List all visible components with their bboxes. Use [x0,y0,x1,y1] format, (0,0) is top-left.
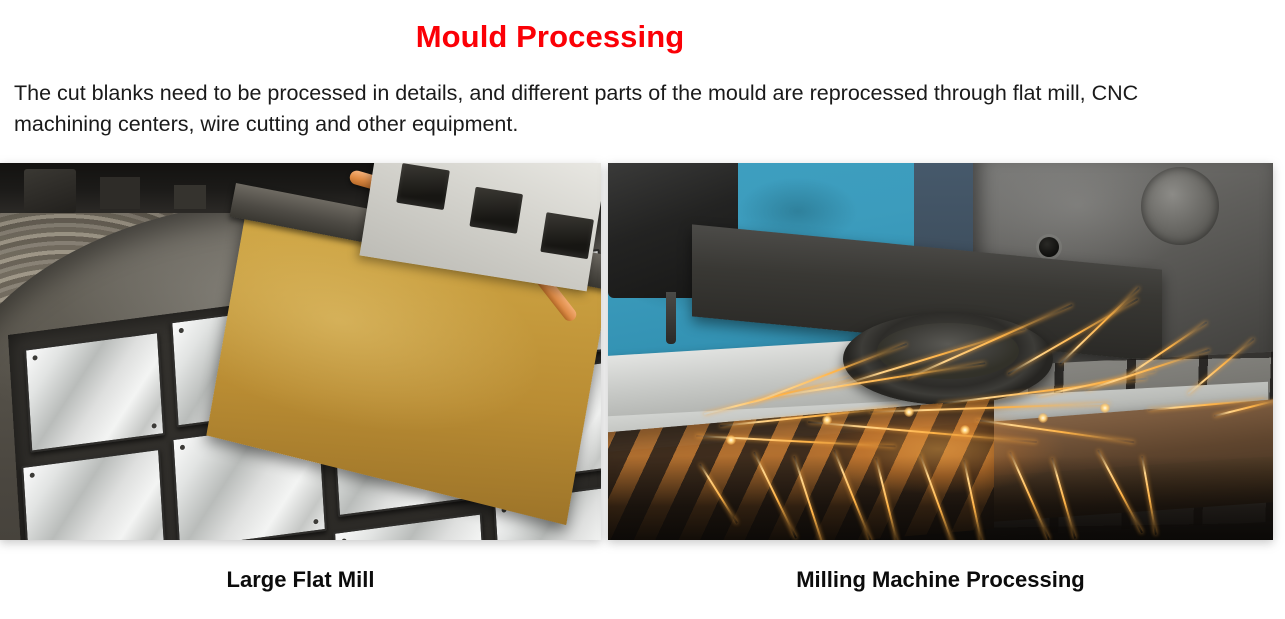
milling-machine-processing-photo [608,163,1273,540]
steel-plate [333,512,488,540]
figure-milling-machine: Milling Machine Processing [608,163,1273,594]
spark-burst [822,415,832,425]
figure-row: Large Flat Mill [0,163,1285,619]
steel-plate [21,448,167,540]
spark-burst [1100,403,1110,413]
intro-paragraph: The cut blanks need to be processed in d… [14,78,1224,140]
figure-caption-large-flat-mill: Large Flat Mill [0,566,601,594]
spark-burst [1038,413,1048,423]
spark-burst [904,407,914,417]
housing-window [396,163,450,210]
housing-bolt [1039,237,1059,257]
housing-window [469,187,523,234]
mould-processing-section: Mould Processing The cut blanks need to … [0,0,1285,619]
steel-plate [24,331,165,453]
page-title: Mould Processing [0,17,1100,57]
figure-large-flat-mill: Large Flat Mill [0,163,601,594]
figure-caption-milling-machine: Milling Machine Processing [608,566,1273,594]
housing-window [540,212,594,259]
spark-burst [726,435,736,445]
housing-disc [1141,167,1219,245]
machine-pit-shadow [608,456,1273,540]
spark-burst [960,425,970,435]
large-flat-mill-photo [0,163,601,540]
